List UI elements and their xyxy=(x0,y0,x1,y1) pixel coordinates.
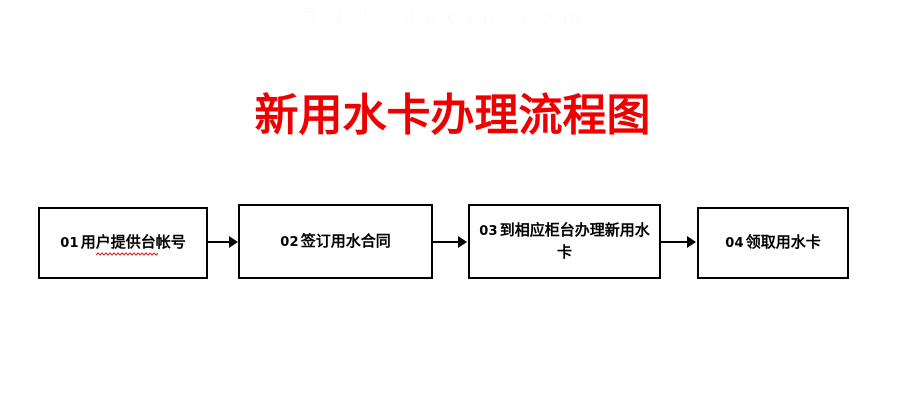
flow-node-01[interactable]: 01用户提供台帐号 xyxy=(38,207,208,279)
flow-node-04-number: 04 xyxy=(725,236,746,251)
connector-line xyxy=(208,241,230,243)
arrow-head-icon xyxy=(229,236,238,248)
flow-node-03-text: 03到相应柜台办理新用水卡 xyxy=(476,220,653,263)
flow-node-04-text: 04领取用水卡 xyxy=(725,232,821,254)
flow-node-04[interactable]: 04领取用水卡 xyxy=(697,207,849,279)
flow-connector-01-02 xyxy=(208,235,239,249)
flow-connector-02-03 xyxy=(433,235,469,249)
arrow-head-icon xyxy=(458,236,467,248)
connector-line xyxy=(433,241,459,243)
connector-line xyxy=(661,241,688,243)
flow-node-02-text: 02签订用水合同 xyxy=(280,231,391,253)
arrow-head-icon xyxy=(687,236,696,248)
flow-node-03[interactable]: 03到相应柜台办理新用水卡 xyxy=(468,204,661,279)
flow-node-02[interactable]: 02签订用水合同 xyxy=(238,204,433,279)
flowchart: 01用户提供台帐号 02签订用水合同 03到相应柜台办理新用水卡 xyxy=(0,0,905,406)
diagram-canvas: 豆丁网 docin.com 新用水卡办理流程图 01用户提供台帐号 02签订用水… xyxy=(0,0,905,406)
flow-connector-03-04 xyxy=(661,235,698,249)
flow-node-01-text: 01用户提供台帐号 xyxy=(60,232,186,254)
flow-node-02-label: 签订用水合同 xyxy=(301,232,391,250)
flow-node-01-label: 用户提供台帐号 xyxy=(81,233,186,251)
flow-node-03-label: 到相应柜台办理新用水卡 xyxy=(500,221,650,261)
flow-node-04-label: 领取用水卡 xyxy=(746,233,821,251)
flow-node-02-number: 02 xyxy=(280,235,301,250)
flow-node-03-number: 03 xyxy=(479,224,500,239)
flow-node-01-number: 01 xyxy=(60,236,81,251)
